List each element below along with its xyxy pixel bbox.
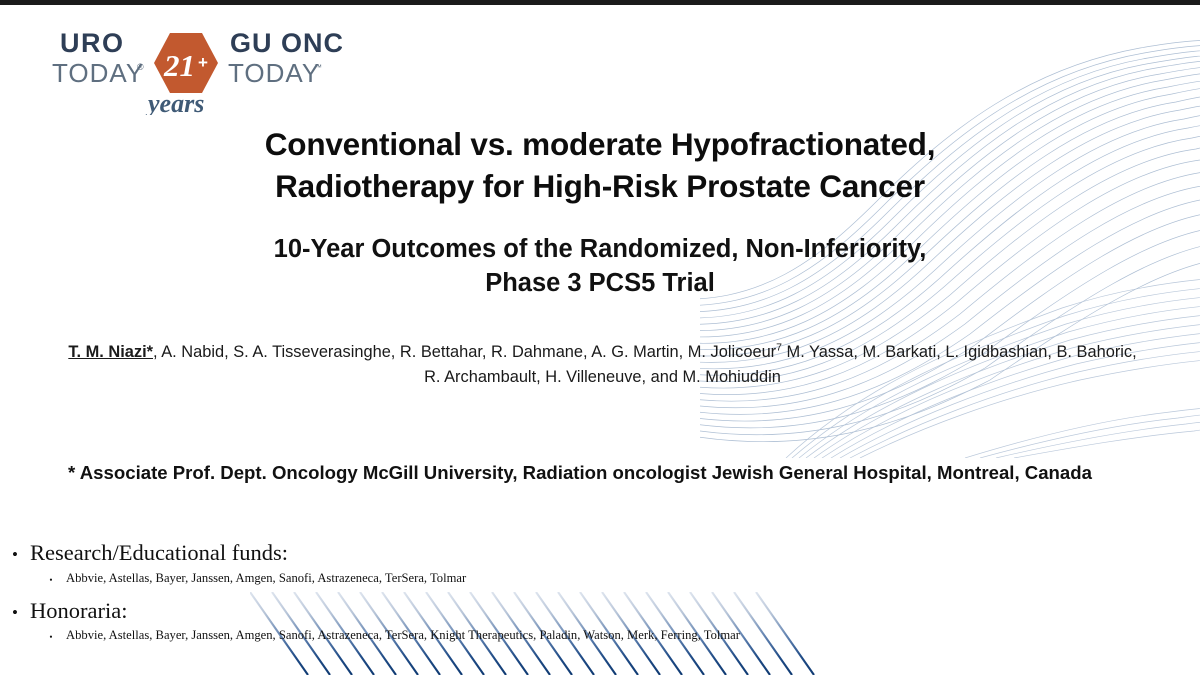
disclosure-item: • Abbvie, Astellas, Bayer, Janssen, Amge… [0, 572, 1000, 587]
logo-registered-mark: ® [137, 62, 144, 72]
sub-bullet-glyph: • [36, 575, 66, 586]
bullet-glyph: • [0, 545, 30, 565]
disclosure-group-research: • Research/Educational funds: • Abbvie, … [0, 540, 1000, 587]
author-list-part-1: , A. Nabid, S. A. Tisseverasinghe, R. Be… [153, 343, 776, 361]
disclosure-item-text: Abbvie, Astellas, Bayer, Janssen, Amgen,… [66, 571, 466, 586]
logo-years-script: years [145, 89, 204, 115]
disclosure-heading-text: Honoraria: [30, 598, 127, 625]
disclosures-list: • Research/Educational funds: • Abbvie, … [0, 540, 1000, 655]
logo-uro-text: URO [60, 28, 125, 58]
title-line-2: Radiotherapy for High-Risk Prostate Canc… [120, 166, 1080, 208]
disclosure-item: • Abbvie, Astellas, Bayer, Janssen, Amge… [0, 629, 1000, 644]
subtitle-line-1: 10-Year Outcomes of the Randomized, Non-… [120, 232, 1080, 266]
presentation-slide: URO TODAY ® 21 + years GU ONC TODAY ™ Co… [0, 0, 1200, 675]
affiliation-note: * Associate Prof. Dept. Oncology McGill … [20, 462, 1140, 484]
logo-trademark-mark: ™ [314, 63, 322, 72]
author-list: T. M. Niazi*, A. Nabid, S. A. Tisseveras… [60, 340, 1145, 390]
sub-bullet-glyph: • [36, 632, 66, 643]
disclosure-heading: • Research/Educational funds: [0, 540, 1000, 567]
logo-today-right-text: TODAY [228, 58, 320, 88]
disclosure-heading-text: Research/Educational funds: [30, 540, 288, 567]
disclosure-heading: • Honoraria: [0, 598, 1000, 625]
top-letterbox-bar [0, 0, 1200, 5]
disclosure-item-text: Abbvie, Astellas, Bayer, Janssen, Amgen,… [66, 628, 740, 643]
logo-badge-plus: + [198, 53, 208, 72]
title-line-1: Conventional vs. moderate Hypofractionat… [120, 124, 1080, 166]
logo-badge-number: 21 [163, 48, 195, 83]
page-title: Conventional vs. moderate Hypofractionat… [120, 124, 1080, 207]
logo-today-left-text: TODAY [52, 58, 144, 88]
page-subtitle: 10-Year Outcomes of the Randomized, Non-… [120, 232, 1080, 300]
subtitle-line-2: Phase 3 PCS5 Trial [120, 266, 1080, 300]
bullet-glyph: • [0, 603, 30, 623]
disclosure-group-honoraria: • Honoraria: • Abbvie, Astellas, Bayer, … [0, 598, 1000, 645]
urotoday-gu-onc-today-logo: URO TODAY ® 21 + years GU ONC TODAY ™ [52, 20, 342, 115]
logo-gu-onc-text: GU ONC [230, 28, 342, 58]
lead-author: T. M. Niazi* [68, 343, 153, 361]
